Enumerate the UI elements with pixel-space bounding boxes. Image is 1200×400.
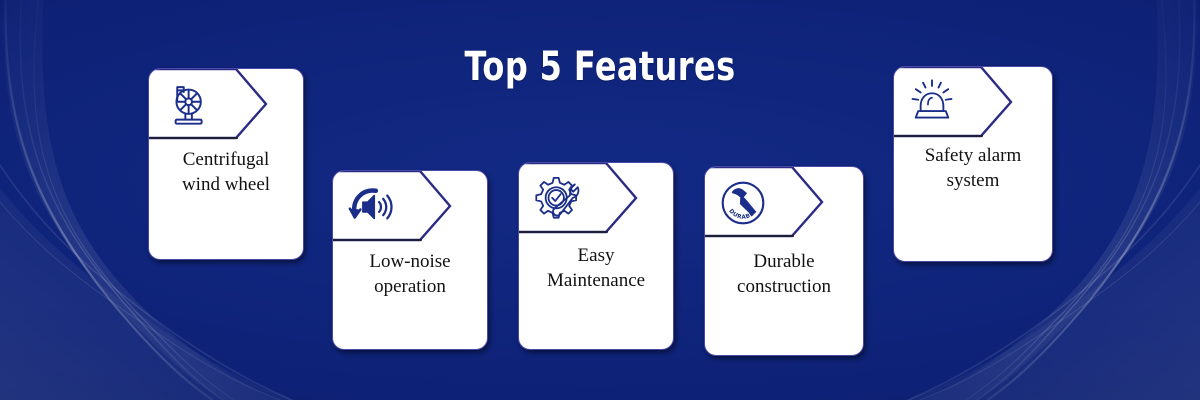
volume-down-speaker-icon bbox=[345, 181, 397, 233]
feature-label: Safety alarm system bbox=[900, 143, 1046, 193]
feature-card-easy-maintenance[interactable]: Easy Maintenance bbox=[518, 162, 674, 350]
feature-label-line1: Low-noise bbox=[339, 249, 481, 274]
feature-label-line1: Easy bbox=[525, 243, 667, 268]
feature-label-line1: Centrifugal bbox=[155, 147, 297, 172]
feature-label-line2: construction bbox=[711, 274, 857, 299]
feature-label: Easy Maintenance bbox=[525, 243, 667, 293]
feature-label: Centrifugal wind wheel bbox=[155, 147, 297, 197]
gear-check-wrench-icon bbox=[531, 173, 583, 225]
hammer-durable-badge-icon: DURABLE bbox=[717, 177, 769, 229]
feature-label-line1: Safety alarm bbox=[900, 143, 1046, 168]
feature-card-durable-construction[interactable]: DURABLE Durable construction bbox=[704, 166, 864, 356]
alarm-siren-beacon-icon bbox=[906, 77, 958, 129]
feature-label-line2: Maintenance bbox=[525, 268, 667, 293]
feature-label-line2: system bbox=[900, 168, 1046, 193]
feature-label-line1: Durable bbox=[711, 249, 857, 274]
feature-card-low-noise-operation[interactable]: Low-noise operation bbox=[332, 170, 488, 350]
feature-card-safety-alarm-system[interactable]: Safety alarm system bbox=[893, 66, 1053, 262]
feature-label: Low-noise operation bbox=[339, 249, 481, 299]
feature-label-line2: operation bbox=[339, 274, 481, 299]
feature-infographic: Top 5 Features bbox=[0, 0, 1200, 400]
feature-label-line2: wind wheel bbox=[155, 172, 297, 197]
centrifugal-blower-icon bbox=[161, 79, 213, 131]
feature-card-centrifugal-wind-wheel[interactable]: Centrifugal wind wheel bbox=[148, 68, 304, 260]
feature-label: Durable construction bbox=[711, 249, 857, 299]
